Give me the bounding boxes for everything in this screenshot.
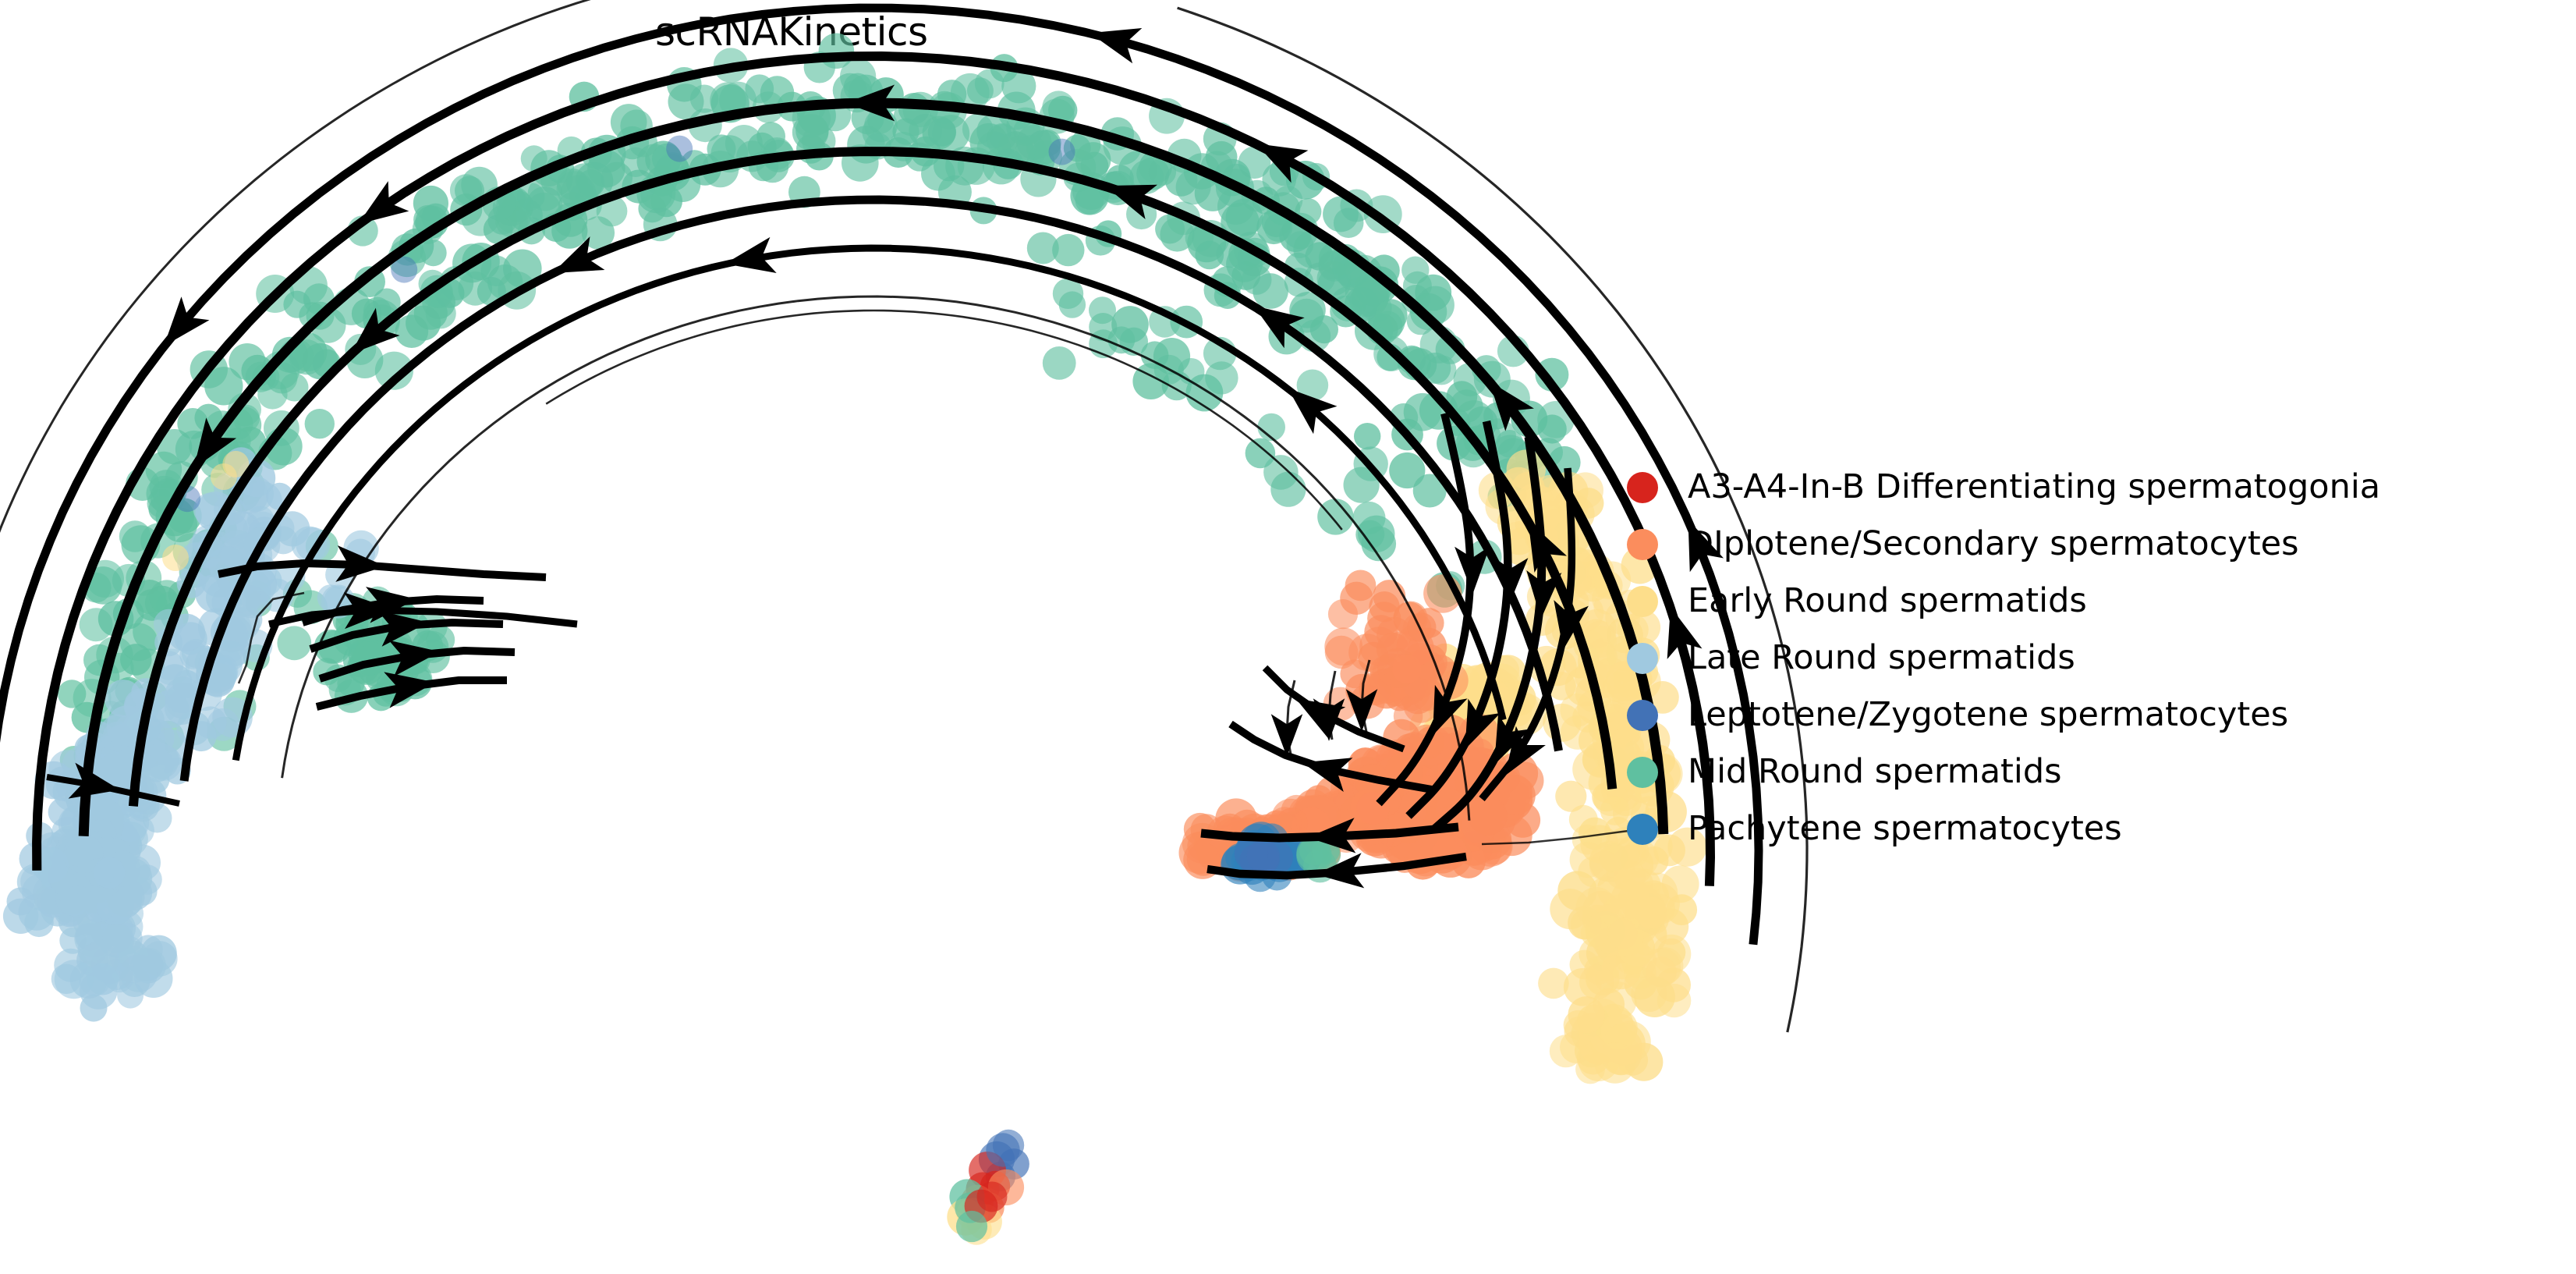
legend-item-label: Leptotene/Zygotene spermatocytes	[1688, 698, 2288, 732]
legend-item[interactable]: A3-A4-In-B Differentiating spermatogonia	[1627, 459, 2547, 516]
legend-item-label: Late Round spermatids	[1688, 641, 2075, 675]
legend-item-label: Mid Round spermatids	[1688, 755, 2062, 789]
legend-item[interactable]: Early Round spermatids	[1627, 573, 2547, 630]
legend-marker-icon	[1627, 757, 1658, 788]
legend-marker-icon	[1627, 529, 1658, 560]
legend-item-label: A3-A4-In-B Differentiating spermatogonia	[1688, 470, 2380, 504]
legend-item[interactable]: Leptotene/Zygotene spermatocytes	[1627, 687, 2547, 743]
legend-item[interactable]: Pachytene spermatocytes	[1627, 800, 2547, 857]
legend-marker-icon	[1627, 643, 1658, 674]
figure-root: scRNAKinetics A3-A4-In-B Differentiating…	[0, 0, 2576, 1274]
legend-marker-icon	[1627, 814, 1658, 845]
legend-item[interactable]: Late Round spermatids	[1627, 630, 2547, 687]
legend-item-label: DIplotene/Secondary spermatocytes	[1688, 527, 2299, 561]
legend-marker-icon	[1627, 586, 1658, 617]
legend: A3-A4-In-B Differentiating spermatogonia…	[1627, 459, 2547, 857]
legend-item[interactable]: Mid Round spermatids	[1627, 743, 2547, 800]
legend-item[interactable]: DIplotene/Secondary spermatocytes	[1627, 516, 2547, 573]
legend-item-label: Pachytene spermatocytes	[1688, 812, 2122, 846]
legend-item-label: Early Round spermatids	[1688, 584, 2087, 618]
legend-marker-icon	[1627, 700, 1658, 731]
legend-marker-icon	[1627, 472, 1658, 503]
